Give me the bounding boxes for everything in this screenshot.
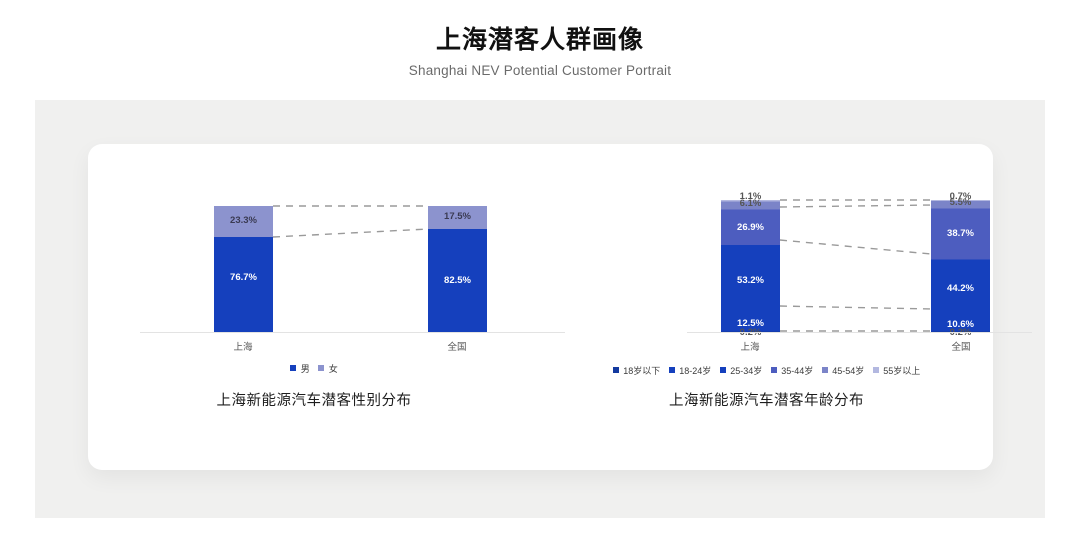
legend-swatch-35-44 (771, 367, 777, 373)
bar-shanghai-55plus (721, 200, 780, 202)
bar-shanghai-25-34 (721, 245, 780, 315)
legend-swatch-male (290, 365, 296, 371)
legend-swatch-55plus (873, 367, 879, 373)
age-category-national: 全国 (926, 339, 996, 353)
connector-top-2 (780, 205, 931, 207)
bar-national-45-54 (931, 201, 990, 209)
gender-axis-line (140, 332, 565, 333)
page-subtitle: Shanghai NEV Potential Customer Portrait (0, 62, 1080, 80)
legend-item-male[interactable]: 男 (290, 362, 310, 375)
legend-item-25-34[interactable]: 25-34岁 (720, 364, 763, 377)
connector-mid (780, 240, 931, 254)
legend-label-55plus: 55岁以上 (883, 366, 920, 376)
age-axis-line (687, 332, 1032, 333)
page-title: 上海潜客人群画像 (0, 24, 1080, 56)
age-legend: 18岁以下 18-24岁 25-34岁 35-44岁 (540, 360, 993, 378)
legend-swatch-female (318, 365, 324, 371)
gender-distribution-chart: 23.3% 76.7% 17.5% 82.5% 上海 全国 男 女 (88, 144, 540, 470)
legend-label-45-54: 45-54岁 (832, 366, 864, 376)
content-panel: 23.3% 76.7% 17.5% 82.5% 上海 全国 男 女 (35, 100, 1045, 518)
age-distribution-chart: 1.1% 6.1% 26.9% 53.2% 12.5% 0.2% 0.7% 5.… (540, 144, 993, 470)
legend-item-under18[interactable]: 18岁以下 (613, 364, 661, 377)
gender-legend: 男 女 (88, 358, 540, 376)
age-chart-caption: 上海新能源汽车潜客年龄分布 (540, 389, 993, 410)
legend-item-female[interactable]: 女 (318, 362, 338, 375)
gender-category-national: 全国 (422, 339, 492, 353)
legend-label-male: 男 (301, 364, 310, 374)
legend-label-under18: 18岁以下 (623, 366, 660, 376)
legend-label-35-44: 35-44岁 (781, 366, 813, 376)
gender-chart-svg (88, 144, 540, 340)
gender-category-shanghai: 上海 (208, 339, 278, 353)
bar-national-male (428, 229, 487, 332)
legend-swatch-18-24 (669, 367, 675, 373)
bar-shanghai-male (214, 237, 273, 332)
charts-card: 23.3% 76.7% 17.5% 82.5% 上海 全国 男 女 (88, 144, 993, 470)
bar-shanghai-35-44 (721, 210, 780, 246)
bar-national-35-44 (931, 209, 990, 260)
connector-split (273, 229, 428, 237)
legend-swatch-25-34 (720, 367, 726, 373)
gender-plot-area: 23.3% 76.7% 17.5% 82.5% (88, 144, 540, 340)
legend-item-35-44[interactable]: 35-44岁 (771, 364, 814, 377)
age-chart-svg (540, 144, 993, 340)
legend-swatch-under18 (613, 367, 619, 373)
age-category-shanghai: 上海 (715, 339, 785, 353)
legend-item-18-24[interactable]: 18-24岁 (669, 364, 712, 377)
bar-national-18-24 (931, 318, 990, 332)
legend-label-25-34: 25-34岁 (730, 366, 762, 376)
legend-item-55plus[interactable]: 55岁以上 (873, 364, 921, 377)
connector-low (780, 306, 931, 309)
bar-national-female (428, 206, 487, 229)
page-root: 上海潜客人群画像 Shanghai NEV Potential Customer… (0, 0, 1080, 547)
bar-national-55plus (931, 200, 990, 201)
legend-label-18-24: 18-24岁 (679, 366, 711, 376)
gender-chart-caption: 上海新能源汽车潜客性别分布 (88, 389, 540, 410)
age-plot-area: 1.1% 6.1% 26.9% 53.2% 12.5% 0.2% 0.7% 5.… (540, 144, 993, 340)
legend-label-female: 女 (329, 364, 338, 374)
bar-shanghai-18-24 (721, 315, 780, 332)
page-header: 上海潜客人群画像 Shanghai NEV Potential Customer… (0, 24, 1080, 80)
legend-swatch-45-54 (822, 367, 828, 373)
bar-national-25-34 (931, 260, 990, 318)
legend-item-45-54[interactable]: 45-54岁 (822, 364, 865, 377)
bar-shanghai-female (214, 206, 273, 237)
bar-shanghai-45-54 (721, 202, 780, 210)
